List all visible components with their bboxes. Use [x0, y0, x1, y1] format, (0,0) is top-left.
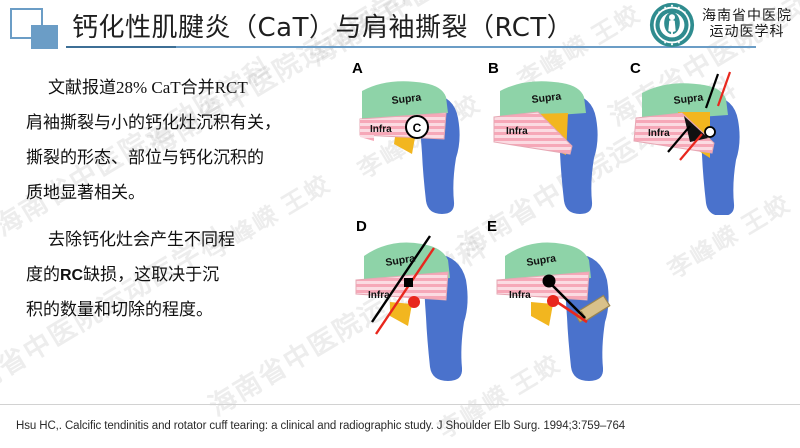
tear-marker-circle-red-e — [547, 295, 559, 307]
footer-divider — [0, 404, 800, 405]
figure-label-c: C — [630, 60, 641, 77]
infra-label-e: Infra — [509, 290, 531, 301]
hospital-logo: 海南省中医院 运动医学科 — [649, 2, 792, 48]
hospital-name-line1: 海南省中医院 — [702, 9, 792, 25]
infra-label-d: Infra — [368, 290, 390, 301]
header-underline-accent — [66, 46, 176, 48]
figure-panel-d: D Supra Infra — [350, 218, 500, 388]
infra-label-b: Infra — [506, 126, 528, 137]
figure-e-illustration: Supra Infra — [485, 218, 645, 388]
figure-group: A Supra Infra — [330, 56, 795, 396]
paragraph-one-line-3: 撕裂的形态、部位与钙化沉积的 — [26, 146, 326, 170]
figure-label-e: E — [487, 218, 497, 235]
paragraph-one: 文献报道28% CaT合并RCT 肩袖撕裂与小的钙化灶沉积有关， 撕裂的形态、部… — [26, 76, 326, 206]
reference-citation: Hsu HC,. Calcific tendinitis and rotator… — [16, 420, 625, 432]
figure-c-illustration: Supra Infra — [618, 60, 768, 215]
figure-d-illustration: Supra Infra — [350, 218, 500, 388]
figure-b-illustration: Supra Infra — [478, 60, 618, 215]
infra-label-c: Infra — [648, 128, 670, 139]
figure-panel-c: C Supra — [618, 60, 768, 215]
paragraph-two-line-3: 积的数量和切除的程度。 — [26, 298, 326, 322]
infra-label-a: Infra — [370, 124, 392, 135]
calcification-deposit-d — [390, 302, 412, 326]
header-decoration — [10, 8, 66, 48]
paragraph-two-line-2-a: 度的 — [26, 265, 60, 284]
page-title: 钙化性肌腱炎（CaT）与肩袖撕裂（RCT） — [72, 7, 573, 44]
figure-label-d: D — [356, 218, 367, 235]
figure-a-illustration: Supra Infra C — [340, 60, 480, 215]
figure-panel-e: E — [485, 218, 645, 388]
paragraph-two-line-2: 度的RC缺损，这取决于沉 — [26, 263, 326, 288]
figure-panel-b: B Supra Infra — [478, 60, 618, 215]
paragraph-two: 去除钙化灶会产生不同程 度的RC缺损，这取决于沉 积的数量和切除的程度。 — [26, 228, 326, 323]
tear-marker-circle-black-e — [543, 275, 556, 288]
calcification-marker-circle-c — [705, 127, 715, 137]
slide-canvas: 海南省中医院运动医学科 李峰嵘 王蛟 海南省中医院运动医学科 李峰嵘 王蛟 海南… — [0, 0, 800, 448]
hospital-name: 海南省中医院 运动医学科 — [702, 9, 792, 40]
figure-panel-a: A Supra Infra — [340, 60, 480, 215]
paragraph-one-line-1: 文献报道28% CaT合并RCT — [26, 76, 326, 100]
body-text-block: 文献报道28% CaT合并RCT 肩袖撕裂与小的钙化灶沉积有关， 撕裂的形态、部… — [26, 76, 326, 333]
hospital-name-line2: 运动医学科 — [710, 25, 785, 41]
slide-header: 钙化性肌腱炎（CaT）与肩袖撕裂（RCT） — [0, 0, 800, 52]
paragraph-one-line-2: 肩袖撕裂与小的钙化灶沉积有关， — [26, 111, 326, 135]
paragraph-one-line-4: 质地显著相关。 — [26, 181, 326, 205]
figure-label-a: A — [352, 60, 363, 77]
tear-marker-square-d — [404, 278, 413, 287]
filled-square-icon — [31, 25, 58, 49]
hospital-emblem-icon — [649, 2, 695, 48]
paragraph-two-line-2-b: 缺损，这取决于沉 — [83, 265, 219, 284]
tear-marker-circle-d — [408, 296, 420, 308]
calcification-marker-label-a: C — [413, 121, 422, 135]
figure-label-b: B — [488, 60, 499, 77]
paragraph-two-rc-term: RC — [60, 267, 83, 284]
paragraph-two-line-1: 去除钙化灶会产生不同程 — [26, 228, 326, 252]
